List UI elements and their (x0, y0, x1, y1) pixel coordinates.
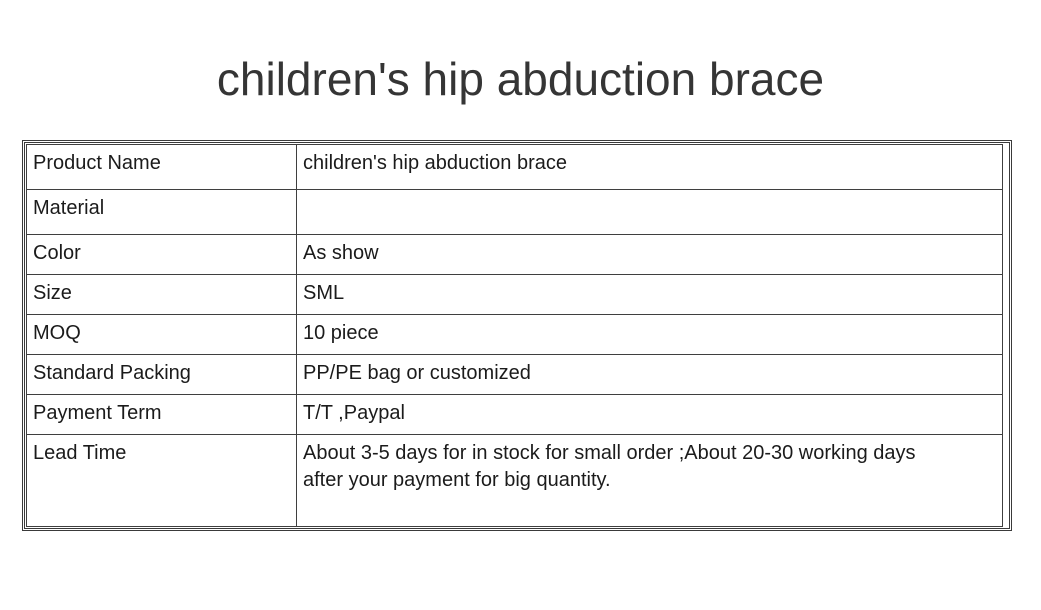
spec-value-product-name: children's hip abduction brace (303, 150, 1002, 177)
spec-label-payment-term: Payment Term (33, 400, 296, 427)
spec-label-cell-lead-time: Lead Time (27, 435, 297, 527)
table-row: Payment Term T/T ,Paypal (27, 395, 1003, 435)
spec-value-cell-standard-packing: PP/PE bag or customized (297, 355, 1003, 395)
table-row: Size SML (27, 275, 1003, 315)
page-title: children's hip abduction brace (217, 51, 824, 107)
spec-value-moq: 10 piece (303, 320, 1002, 347)
spec-value-cell-material (297, 190, 1003, 235)
spec-label-cell-product-name: Product Name (27, 145, 297, 190)
spec-table-frame: Product Name children's hip abduction br… (22, 140, 1012, 531)
spec-label-size: Size (33, 280, 296, 307)
spec-label-cell-material: Material (27, 190, 297, 235)
spec-value-cell-lead-time: About 3-5 days for in stock for small or… (297, 435, 1003, 527)
spec-value-cell-product-name: children's hip abduction brace (297, 145, 1003, 190)
page-title-container: children's hip abduction brace (0, 20, 1041, 138)
spec-label-lead-time: Lead Time (33, 440, 296, 467)
table-row: Color As show (27, 235, 1003, 275)
spec-label-cell-payment-term: Payment Term (27, 395, 297, 435)
spec-value-cell-size: SML (297, 275, 1003, 315)
spec-label-standard-packing: Standard Packing (33, 360, 296, 387)
table-row: Standard Packing PP/PE bag or customized (27, 355, 1003, 395)
spec-value-cell-color: As show (297, 235, 1003, 275)
spec-value-size: SML (303, 280, 1002, 307)
spec-label-material: Material (33, 195, 296, 222)
table-row: Product Name children's hip abduction br… (27, 145, 1003, 190)
spec-label-cell-size: Size (27, 275, 297, 315)
product-spec-page: children's hip abduction brace Product N… (0, 0, 1041, 610)
spec-value-standard-packing: PP/PE bag or customized (303, 360, 1002, 387)
spec-value-cell-payment-term: T/T ,Paypal (297, 395, 1003, 435)
spec-table-body: Product Name children's hip abduction br… (27, 145, 1003, 527)
spec-value-payment-term: T/T ,Paypal (303, 400, 1002, 427)
spec-label-moq: MOQ (33, 320, 296, 347)
spec-value-color: As show (303, 240, 1002, 267)
spec-label-cell-standard-packing: Standard Packing (27, 355, 297, 395)
spec-value-material (303, 195, 1002, 222)
spec-value-lead-time: About 3-5 days for in stock for small or… (303, 440, 1002, 494)
spec-value-cell-moq: 10 piece (297, 315, 1003, 355)
table-row: Lead Time About 3-5 days for in stock fo… (27, 435, 1003, 527)
product-specification-table: Product Name children's hip abduction br… (26, 144, 1003, 527)
spec-label-color: Color (33, 240, 296, 267)
table-row: Material (27, 190, 1003, 235)
spec-label-cell-color: Color (27, 235, 297, 275)
table-row: MOQ 10 piece (27, 315, 1003, 355)
spec-label-product-name: Product Name (33, 150, 296, 177)
spec-label-cell-moq: MOQ (27, 315, 297, 355)
